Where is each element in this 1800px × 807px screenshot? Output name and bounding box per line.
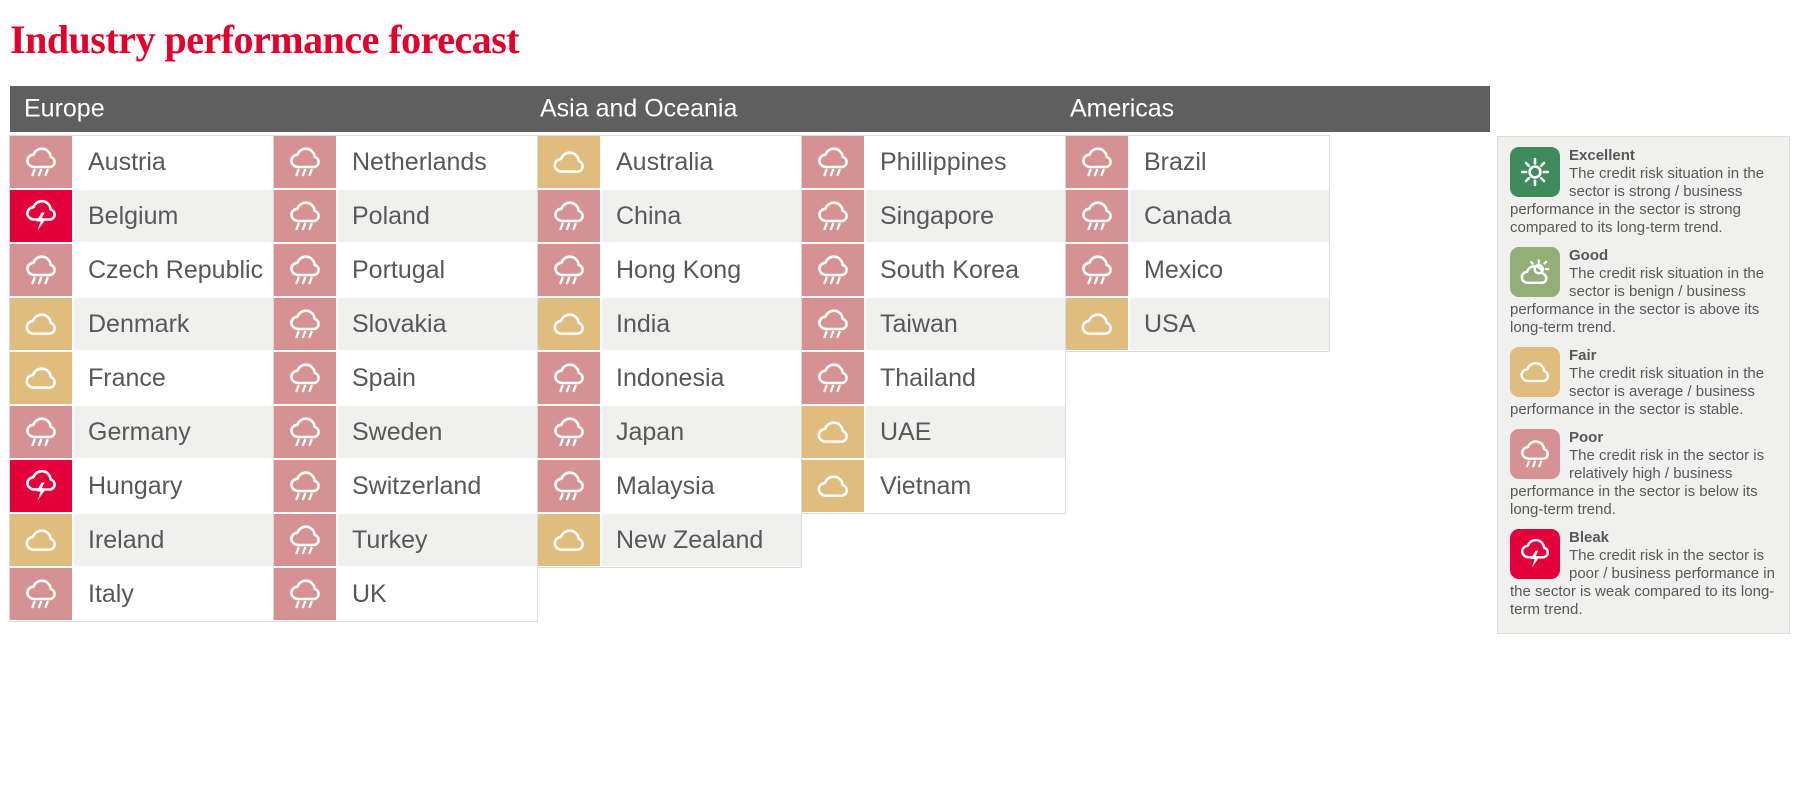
country-row[interactable]: Thailand: [802, 352, 1066, 406]
thunderstorm-cloud-icon: [24, 199, 58, 233]
cloud-icon: [552, 523, 586, 557]
region-header-bar: Europe Asia and Oceania Americas: [10, 86, 1490, 132]
rain-cloud-icon: [1080, 199, 1114, 233]
rating-icon-cell: [10, 514, 72, 566]
country-row[interactable]: UK: [274, 568, 538, 622]
rating-icon-cell: [10, 190, 72, 242]
country-name: Vietnam: [864, 460, 1066, 512]
country-name: Austria: [72, 136, 274, 188]
region-header-asia: Asia and Oceania: [540, 95, 737, 124]
rain-cloud-icon: [288, 361, 322, 395]
country-row[interactable]: Poland: [274, 190, 538, 244]
rain-cloud-icon: [552, 361, 586, 395]
rain-cloud-icon: [552, 415, 586, 449]
country-name: Hungary: [72, 460, 274, 512]
page-title: Industry performance forecast: [10, 16, 519, 63]
country-row[interactable]: Taiwan: [802, 298, 1066, 352]
country-row[interactable]: Slovakia: [274, 298, 538, 352]
rain-cloud-icon: [288, 199, 322, 233]
rating-icon-cell: [10, 298, 72, 350]
rain-cloud-icon: [24, 577, 58, 611]
country-row[interactable]: Czech Republic: [10, 244, 274, 298]
legend-rating-icon: [1510, 429, 1560, 479]
country-row[interactable]: Portugal: [274, 244, 538, 298]
country-name: Singapore: [864, 190, 1066, 242]
legend-item: BleakThe credit risk in the sector is po…: [1510, 529, 1777, 619]
rating-icon-cell: [802, 460, 864, 512]
country-row[interactable]: Switzerland: [274, 460, 538, 514]
rain-cloud-icon: [288, 523, 322, 557]
legend-term: Poor: [1569, 429, 1603, 446]
country-name: Switzerland: [336, 460, 538, 512]
country-name: Italy: [72, 568, 274, 620]
country-name: Belgium: [72, 190, 274, 242]
rain-cloud-icon: [1080, 145, 1114, 179]
country-name: Australia: [600, 136, 802, 188]
rating-icon-cell: [802, 298, 864, 350]
rating-icon-cell: [1066, 244, 1128, 296]
rating-icon-cell: [274, 514, 336, 566]
country-name: New Zealand: [600, 514, 802, 566]
cloud-icon: [24, 523, 58, 557]
country-column-asia-2: PhillippinesSingaporeSouth KoreaTaiwanTh…: [802, 136, 1066, 514]
country-row[interactable]: Canada: [1066, 190, 1330, 244]
rain-cloud-icon: [24, 145, 58, 179]
country-row[interactable]: New Zealand: [538, 514, 802, 568]
country-row[interactable]: Mexico: [1066, 244, 1330, 298]
country-row[interactable]: China: [538, 190, 802, 244]
rating-icon-cell: [802, 244, 864, 296]
cloud-icon: [816, 415, 850, 449]
country-name: UK: [336, 568, 538, 620]
rating-icon-cell: [538, 298, 600, 350]
country-column-europe-2: NetherlandsPolandPortugalSlovakiaSpainSw…: [274, 136, 538, 622]
rating-icon-cell: [538, 190, 600, 242]
country-row[interactable]: Ireland: [10, 514, 274, 568]
country-row[interactable]: USA: [1066, 298, 1330, 352]
country-name: China: [600, 190, 802, 242]
country-name: Thailand: [864, 352, 1066, 404]
country-name: Spain: [336, 352, 538, 404]
country-row[interactable]: Phillippines: [802, 136, 1066, 190]
legend-term: Fair: [1569, 347, 1597, 364]
cloud-icon: [552, 145, 586, 179]
country-name: Turkey: [336, 514, 538, 566]
country-row[interactable]: India: [538, 298, 802, 352]
country-column-americas-1: BrazilCanadaMexicoUSA: [1066, 136, 1330, 352]
country-row[interactable]: UAE: [802, 406, 1066, 460]
rating-icon-cell: [10, 406, 72, 458]
country-name: Canada: [1128, 190, 1330, 242]
rain-cloud-icon: [1080, 253, 1114, 287]
country-column-europe-1: AustriaBelgiumCzech RepublicDenmarkFranc…: [10, 136, 274, 622]
legend-item: ExcellentThe credit risk situation in th…: [1510, 147, 1777, 237]
country-name: UAE: [864, 406, 1066, 458]
country-name: Germany: [72, 406, 274, 458]
rain-cloud-icon: [288, 307, 322, 341]
country-name: Czech Republic: [72, 244, 274, 296]
country-name: Brazil: [1128, 136, 1330, 188]
legend-term: Bleak: [1569, 529, 1609, 546]
rain-cloud-icon: [24, 415, 58, 449]
rain-cloud-icon: [552, 199, 586, 233]
rain-cloud-icon: [816, 361, 850, 395]
rain-cloud-icon: [552, 469, 586, 503]
country-row[interactable]: Netherlands: [274, 136, 538, 190]
country-name: India: [600, 298, 802, 350]
rating-icon-cell: [10, 136, 72, 188]
country-name: Japan: [600, 406, 802, 458]
rain-cloud-icon: [288, 415, 322, 449]
rain-cloud-icon: [288, 253, 322, 287]
country-row[interactable]: Indonesia: [538, 352, 802, 406]
legend-rating-icon: [1510, 247, 1560, 297]
rating-icon-cell: [274, 190, 336, 242]
country-row[interactable]: Belgium: [10, 190, 274, 244]
cloud-icon: [552, 307, 586, 341]
rain-cloud-icon: [816, 307, 850, 341]
legend-rating-icon: [1510, 147, 1560, 197]
country-row[interactable]: Hungary: [10, 460, 274, 514]
rating-icon-cell: [274, 136, 336, 188]
country-row[interactable]: Austria: [10, 136, 274, 190]
rain-cloud-icon: [816, 145, 850, 179]
country-row[interactable]: Denmark: [10, 298, 274, 352]
country-name: Poland: [336, 190, 538, 242]
country-row[interactable]: Italy: [10, 568, 274, 622]
rating-icon-cell: [802, 136, 864, 188]
rating-icon-cell: [538, 514, 600, 566]
country-row[interactable]: Malaysia: [538, 460, 802, 514]
rating-icon-cell: [10, 244, 72, 296]
rating-icon-cell: [274, 568, 336, 620]
country-name: Mexico: [1128, 244, 1330, 296]
country-name: USA: [1128, 298, 1330, 350]
country-row[interactable]: Japan: [538, 406, 802, 460]
country-column-asia-1: AustraliaChinaHong KongIndiaIndonesiaJap…: [538, 136, 802, 568]
rain-cloud-icon: [1519, 438, 1551, 470]
rain-cloud-icon: [552, 253, 586, 287]
rating-icon-cell: [538, 244, 600, 296]
rating-icon-cell: [802, 352, 864, 404]
cloud-icon: [24, 307, 58, 341]
legend-item: FairThe credit risk situation in the sec…: [1510, 347, 1777, 419]
rain-cloud-icon: [288, 145, 322, 179]
sun-behind-cloud-icon: [1519, 256, 1551, 288]
rating-icon-cell: [274, 460, 336, 512]
rating-icon-cell: [10, 568, 72, 620]
country-name: Indonesia: [600, 352, 802, 404]
country-name: Taiwan: [864, 298, 1066, 350]
cloud-icon: [816, 469, 850, 503]
rating-icon-cell: [802, 190, 864, 242]
country-name: Phillippines: [864, 136, 1066, 188]
legend-rating-icon: [1510, 529, 1560, 579]
country-row[interactable]: Sweden: [274, 406, 538, 460]
rating-icon-cell: [538, 406, 600, 458]
legend-item: PoorThe credit risk in the sector is rel…: [1510, 429, 1777, 519]
country-name: South Korea: [864, 244, 1066, 296]
cloud-icon: [1080, 307, 1114, 341]
rating-icon-cell: [10, 352, 72, 404]
rain-cloud-icon: [24, 253, 58, 287]
rating-legend: ExcellentThe credit risk situation in th…: [1497, 136, 1790, 634]
country-row[interactable]: Turkey: [274, 514, 538, 568]
rating-icon-cell: [538, 352, 600, 404]
rating-icon-cell: [1066, 136, 1128, 188]
rating-icon-cell: [1066, 190, 1128, 242]
rating-icon-cell: [274, 352, 336, 404]
region-header-americas: Americas: [1070, 95, 1174, 124]
legend-term: Excellent: [1569, 147, 1635, 164]
rain-cloud-icon: [288, 469, 322, 503]
country-row[interactable]: Australia: [538, 136, 802, 190]
cloud-icon: [1519, 356, 1551, 388]
country-name: Ireland: [72, 514, 274, 566]
rating-icon-cell: [538, 460, 600, 512]
rating-icon-cell: [10, 460, 72, 512]
thunderstorm-cloud-icon: [1519, 538, 1551, 570]
country-name: Denmark: [72, 298, 274, 350]
country-row[interactable]: South Korea: [802, 244, 1066, 298]
rain-cloud-icon: [288, 577, 322, 611]
rating-icon-cell: [274, 406, 336, 458]
thunderstorm-cloud-icon: [24, 469, 58, 503]
rain-cloud-icon: [816, 253, 850, 287]
country-row[interactable]: Singapore: [802, 190, 1066, 244]
industry-performance-forecast-page: Industry performance forecast Europe Asi…: [0, 0, 1800, 807]
country-name: Sweden: [336, 406, 538, 458]
rating-icon-cell: [1066, 298, 1128, 350]
country-row[interactable]: Germany: [10, 406, 274, 460]
legend-rating-icon: [1510, 347, 1560, 397]
cloud-icon: [24, 361, 58, 395]
legend-item: GoodThe credit risk situation in the sec…: [1510, 247, 1777, 337]
rating-icon-cell: [802, 406, 864, 458]
rating-icon-cell: [538, 136, 600, 188]
country-name: Netherlands: [336, 136, 538, 188]
country-row[interactable]: Brazil: [1066, 136, 1330, 190]
country-name: France: [72, 352, 274, 404]
country-name: Hong Kong: [600, 244, 802, 296]
country-name: Malaysia: [600, 460, 802, 512]
rating-icon-cell: [274, 298, 336, 350]
rain-cloud-icon: [816, 199, 850, 233]
country-row[interactable]: Vietnam: [802, 460, 1066, 514]
country-row[interactable]: Spain: [274, 352, 538, 406]
sun-icon: [1519, 156, 1551, 188]
rating-icon-cell: [274, 244, 336, 296]
region-header-europe: Europe: [24, 95, 105, 124]
country-row[interactable]: France: [10, 352, 274, 406]
legend-term: Good: [1569, 247, 1608, 264]
country-name: Portugal: [336, 244, 538, 296]
country-row[interactable]: Hong Kong: [538, 244, 802, 298]
country-name: Slovakia: [336, 298, 538, 350]
